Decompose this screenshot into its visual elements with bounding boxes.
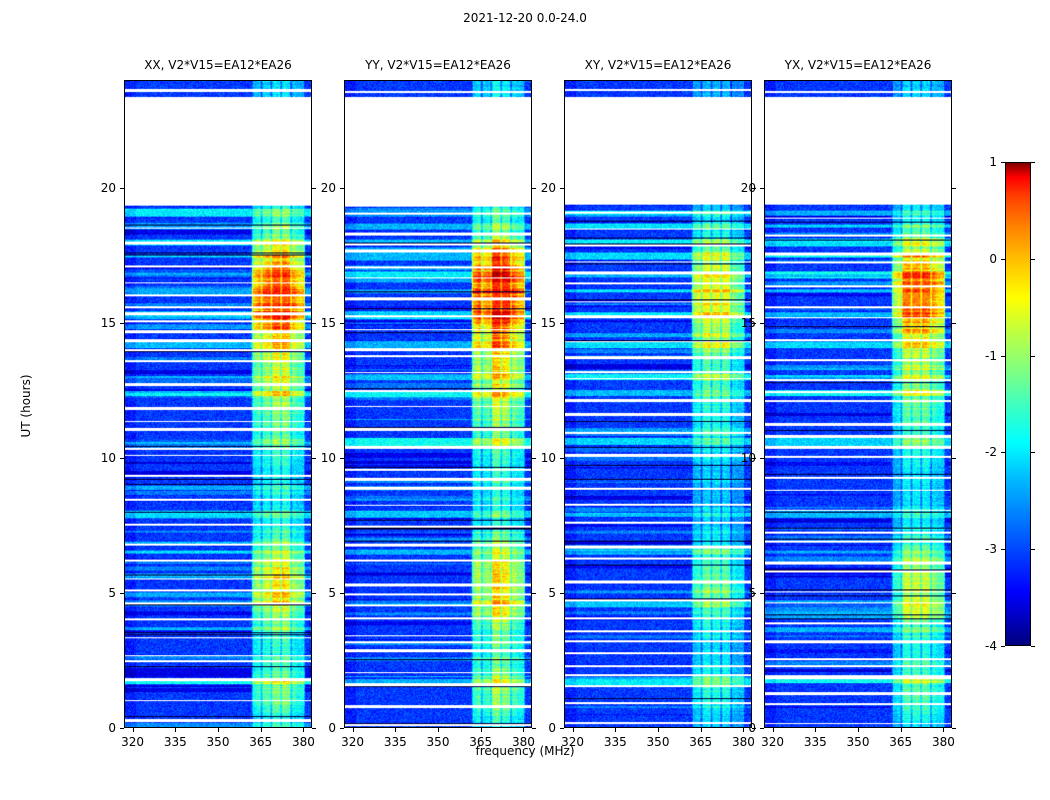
- waterfall-image-xx: [125, 81, 311, 727]
- y-tick-label: 10: [512, 452, 556, 464]
- colorbar-tickmark: [1001, 549, 1005, 550]
- colorbar-tickmark: [1001, 259, 1005, 260]
- y-tick-label: 20: [712, 182, 756, 194]
- colorbar-tick-label: -1: [957, 350, 997, 362]
- x-tickmark: [858, 728, 859, 732]
- x-tickmark: [658, 728, 659, 732]
- y-tickmark: [760, 188, 764, 189]
- colorbar-tickmark: [1031, 259, 1035, 260]
- y-tick-label: 10: [292, 452, 336, 464]
- y-tickmark: [952, 323, 956, 324]
- y-tickmark: [120, 188, 124, 189]
- y-tickmark: [560, 593, 564, 594]
- panel-yx[interactable]: [764, 80, 952, 728]
- colorbar-tickmark: [1001, 452, 1005, 453]
- x-tickmark: [261, 728, 262, 732]
- y-tickmark: [340, 593, 344, 594]
- y-tick-label: 10: [712, 452, 756, 464]
- colorbar-tick-label: -2: [957, 446, 997, 458]
- y-tick-label: 20: [72, 182, 116, 194]
- panel-xx[interactable]: [124, 80, 312, 728]
- y-tickmark: [340, 323, 344, 324]
- y-tickmark: [760, 458, 764, 459]
- figure-canvas: 2021-12-20 0.0-24.0 XX, V2*V15=EA12*EA26…: [0, 0, 1050, 800]
- y-tick-label: 5: [72, 587, 116, 599]
- y-tick-label: 0: [72, 722, 116, 734]
- colorbar-tickmark: [1031, 356, 1035, 357]
- x-tickmark: [701, 728, 702, 732]
- x-tickmark: [773, 728, 774, 732]
- panel-xy[interactable]: [564, 80, 752, 728]
- colorbar-tickmark: [1031, 646, 1035, 647]
- x-tickmark: [395, 728, 396, 732]
- x-axis-label: frequency (MHz): [0, 745, 1050, 757]
- y-tickmark: [120, 593, 124, 594]
- colorbar-tickmark: [1001, 646, 1005, 647]
- panel-title-xx: XX, V2*V15=EA12*EA26: [124, 58, 312, 72]
- figure-suptitle: 2021-12-20 0.0-24.0: [0, 11, 1050, 25]
- x-tickmark: [175, 728, 176, 732]
- colorbar-tick-label: -3: [957, 543, 997, 555]
- y-tick-label: 5: [712, 587, 756, 599]
- y-tick-label: 20: [292, 182, 336, 194]
- colorbar-container[interactable]: [1005, 162, 1031, 646]
- x-tickmark: [438, 728, 439, 732]
- x-tickmark: [943, 728, 944, 732]
- y-tickmark: [120, 728, 124, 729]
- colorbar-tick-label: -4: [957, 640, 997, 652]
- waterfall-image-yx: [765, 81, 951, 727]
- x-tickmark: [218, 728, 219, 732]
- colorbar-tickmark: [1031, 452, 1035, 453]
- y-tick-label: 15: [292, 317, 336, 329]
- x-tickmark: [815, 728, 816, 732]
- y-tick-label: 20: [512, 182, 556, 194]
- y-tickmark: [340, 728, 344, 729]
- y-tickmark: [952, 728, 956, 729]
- colorbar-tickmark: [1001, 162, 1005, 163]
- y-tickmark: [560, 188, 564, 189]
- y-tickmark: [760, 323, 764, 324]
- y-tickmark: [952, 593, 956, 594]
- y-tickmark: [340, 188, 344, 189]
- y-tickmark: [952, 458, 956, 459]
- y-tickmark: [560, 728, 564, 729]
- y-tick-label: 5: [292, 587, 336, 599]
- panel-title-yx: YX, V2*V15=EA12*EA26: [764, 58, 952, 72]
- colorbar-tickmark: [1031, 162, 1035, 163]
- colorbar-gradient: [1005, 162, 1031, 646]
- x-tickmark: [615, 728, 616, 732]
- waterfall-image-yy: [345, 81, 531, 727]
- y-tick-label: 0: [512, 722, 556, 734]
- panel-title-xy: XY, V2*V15=EA12*EA26: [564, 58, 752, 72]
- y-tickmark: [760, 728, 764, 729]
- y-axis-label: UT (hours): [20, 346, 32, 466]
- waterfall-image-xy: [565, 81, 751, 727]
- panel-yy[interactable]: [344, 80, 532, 728]
- y-tick-label: 10: [72, 452, 116, 464]
- y-tick-label: 5: [512, 587, 556, 599]
- colorbar-tick-label: 0: [957, 253, 997, 265]
- x-tickmark: [901, 728, 902, 732]
- x-tickmark: [133, 728, 134, 732]
- y-tickmark: [560, 458, 564, 459]
- y-tickmark: [760, 593, 764, 594]
- panel-title-yy: YY, V2*V15=EA12*EA26: [344, 58, 532, 72]
- y-tick-label: 0: [292, 722, 336, 734]
- x-tickmark: [353, 728, 354, 732]
- y-tickmark: [120, 323, 124, 324]
- x-tickmark: [481, 728, 482, 732]
- x-tickmark: [573, 728, 574, 732]
- y-tickmark: [952, 188, 956, 189]
- y-tick-label: 15: [712, 317, 756, 329]
- y-tickmark: [340, 458, 344, 459]
- colorbar-tickmark: [1001, 356, 1005, 357]
- y-tick-label: 0: [712, 722, 756, 734]
- y-tickmark: [120, 458, 124, 459]
- colorbar-tick-label: 1: [957, 156, 997, 168]
- y-tick-label: 15: [512, 317, 556, 329]
- y-tickmark: [560, 323, 564, 324]
- colorbar-tickmark: [1031, 549, 1035, 550]
- y-tick-label: 15: [72, 317, 116, 329]
